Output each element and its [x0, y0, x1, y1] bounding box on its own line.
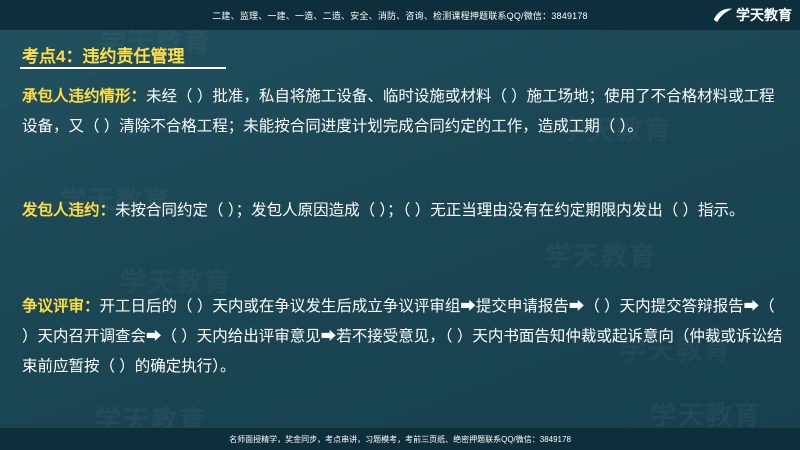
section-label: 发包人违约 [22, 202, 100, 219]
watermark: 学天教育 [545, 236, 657, 273]
section-body: 开工日后的（ ）天内或在争议发生后成立争议评审组➡提交申请报告➡（ ）天内提交答… [22, 298, 782, 375]
brand-logo: 学天教育 [713, 5, 792, 25]
top-notice-text: 二建、监理、一建、一造、二造、安全、消防、咨询、检测课程押题联系QQ/微信：38… [212, 9, 588, 22]
section-label: 承包人违约情形 [22, 88, 131, 105]
section-dispute-review: 争议评审：开工日后的（ ）天内或在争议发生后成立争议评审组➡提交申请报告➡（ ）… [22, 292, 784, 382]
section-label: 争议评审 [22, 298, 84, 315]
section-separator: ： [131, 88, 147, 105]
section-body: 未按合同约定（ ）；发包人原因造成（ ）；（ ）无正当理由没有在约定期限内发出（… [115, 202, 744, 219]
section-separator: ： [100, 202, 116, 219]
brand-logo-text: 学天教育 [736, 5, 792, 25]
section-contractor-breach: 承包人违约情形：未经（ ）批准，私自将施工设备、临时设施或材料（ ）施工场地；使… [22, 82, 784, 142]
swoosh-logo-icon [713, 7, 733, 24]
watermark: 学天教育 [650, 395, 762, 432]
top-notice-bar: 二建、监理、一建、一造、二造、安全、消防、咨询、检测课程押题联系QQ/微信：38… [0, 0, 800, 30]
bottom-notice-bar: 名师面授精学，奖金同步，考点串讲，习题模考，考前三页纸、绝密押题联系QQ/微信：… [0, 428, 800, 450]
section-separator: ： [84, 298, 100, 315]
page-title: 考点4：违约责任管理 [22, 42, 184, 67]
title-underline [20, 67, 226, 69]
slide: 学天教育 学天教育 学天教育 学天教育 学天教育 学天教育 学天教育 学天教育 … [0, 0, 800, 450]
bottom-notice-text: 名师面授精学，奖金同步，考点串讲，习题模考，考前三页纸、绝密押题联系QQ/微信：… [229, 434, 571, 445]
section-employer-breach: 发包人违约：未按合同约定（ ）；发包人原因造成（ ）；（ ）无正当理由没有在约定… [22, 196, 784, 226]
